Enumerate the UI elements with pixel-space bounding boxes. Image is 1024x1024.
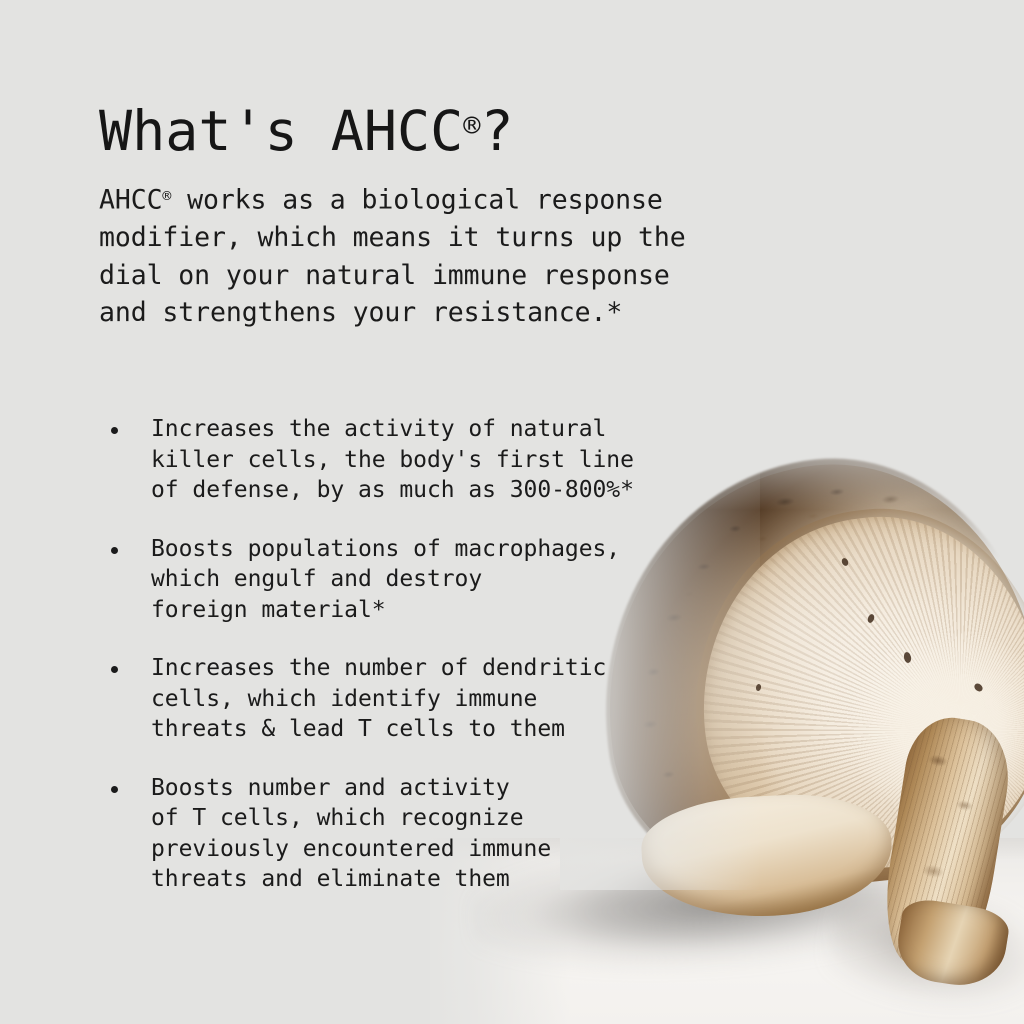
- intro-line-1-rest: works as a biological response: [171, 185, 663, 216]
- page-title-suffix: ?: [480, 99, 513, 163]
- bullet-dot-icon: [111, 786, 118, 793]
- list-item: Increases the activity of natural killer…: [106, 414, 746, 506]
- registered-trademark-icon: ®: [162, 188, 171, 205]
- list-item-line: previously encountered immune: [151, 834, 746, 865]
- intro-brand: AHCC: [99, 185, 162, 216]
- bullet-dot-icon: [111, 666, 118, 673]
- intro-line-3: dial on your natural immune response: [99, 257, 879, 295]
- stem-cast-shadow: [821, 881, 1024, 1024]
- gill-speck: [867, 613, 876, 624]
- list-item: Increases the number of dendritic cells,…: [106, 653, 746, 745]
- intro-paragraph: AHCC® works as a biological response mod…: [99, 178, 879, 332]
- list-item-line: which engulf and destroy: [151, 564, 746, 595]
- page-title-prefix: What's AHCC: [99, 99, 463, 163]
- list-item-line: Increases the activity of natural: [151, 414, 746, 445]
- bullet-dot-icon: [111, 427, 118, 434]
- page-title: What's AHCC®?: [99, 94, 514, 162]
- registered-trademark-icon: ®: [463, 108, 480, 142]
- gill-speck: [841, 557, 850, 567]
- intro-line-1: AHCC® works as a biological response: [99, 178, 879, 219]
- list-item-line: threats & lead T cells to them: [151, 714, 746, 745]
- list-item-line: threats and eliminate them: [151, 864, 746, 895]
- bullet-dot-icon: [111, 547, 118, 554]
- list-item: Boosts number and activity of T cells, w…: [106, 773, 746, 895]
- list-item-line: of defense, by as much as 300-800%*: [151, 475, 746, 506]
- benefits-list: Increases the activity of natural killer…: [106, 414, 746, 895]
- ahcc-info-card: What's AHCC®? AHCC® works as a biologica…: [0, 0, 1024, 1024]
- mushroom-stem: [875, 711, 1017, 974]
- list-item-line: foreign material*: [151, 595, 746, 626]
- list-item-line: of T cells, which recognize: [151, 803, 746, 834]
- intro-line-4: and strengthens your resistance.*: [99, 294, 879, 332]
- gill-speck: [755, 683, 762, 691]
- list-item-line: Boosts number and activity: [151, 773, 746, 804]
- gill-speck: [973, 682, 984, 693]
- mushroom-stem-base: [892, 896, 1011, 992]
- list-item-line: Increases the number of dendritic: [151, 653, 746, 684]
- list-item-line: cells, which identify immune: [151, 684, 746, 715]
- list-item-line: Boosts populations of macrophages,: [151, 534, 746, 565]
- gill-speck: [903, 651, 912, 663]
- list-item-line: killer cells, the body's first line: [151, 445, 746, 476]
- intro-line-2: modifier, which means it turns up the: [99, 219, 879, 257]
- list-item: Boosts populations of macrophages, which…: [106, 534, 746, 626]
